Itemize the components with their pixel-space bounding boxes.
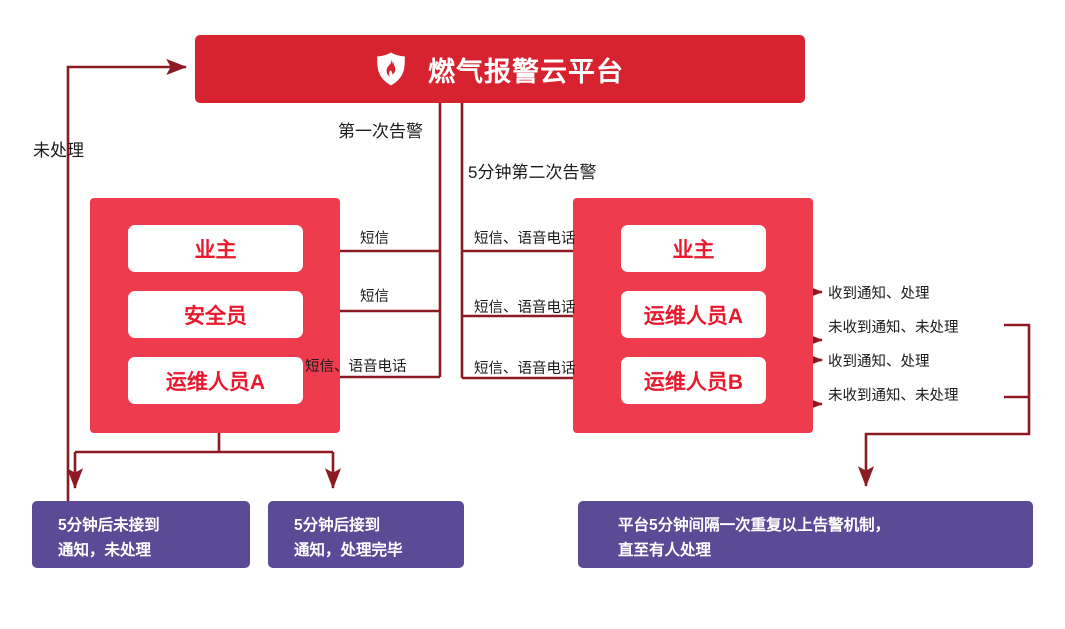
label-outcome-2: 未收到通知、未处理 — [828, 316, 959, 337]
label-second-alarm: 5分钟第二次告警 — [468, 158, 596, 183]
platform-header-banner: 燃气报警云平台 — [195, 35, 805, 103]
outcome-b-line-2: 通知，处理完毕 — [294, 538, 464, 563]
outcome-box-notified-handled: 5分钟后接到 通知，处理完毕 — [268, 501, 464, 568]
role-card-om-staff-b[interactable]: 运维人员B — [621, 357, 766, 404]
role-card-safety-officer[interactable]: 安全员 — [128, 291, 303, 338]
shield-flame-icon — [376, 52, 406, 86]
first-alarm-recipients-panel: 业主 安全员 运维人员A — [90, 198, 340, 433]
outcome-b-line-1: 5分钟后接到 — [294, 513, 464, 538]
label-left-channel-3: 短信、语音电话 — [305, 355, 407, 376]
label-unhandled-feedback: 未处理 — [33, 136, 84, 161]
label-right-channel-3: 短信、语音电话 — [474, 357, 576, 378]
outcome-box-repeat-mechanism: 平台5分钟间隔一次重复以上告警机制， 直至有人处理 — [578, 501, 1033, 568]
outcome-a-line-1: 5分钟后未接到 — [58, 513, 250, 538]
outcome-a-line-2: 通知，未处理 — [58, 538, 250, 563]
second-alarm-recipients-panel: 业主 运维人员A 运维人员B — [573, 198, 813, 433]
label-first-alarm: 第一次告警 — [338, 117, 423, 142]
outcome-box-not-notified: 5分钟后未接到 通知，未处理 — [32, 501, 250, 568]
page-title: 燃气报警云平台 — [428, 50, 624, 89]
label-outcome-1: 收到通知、处理 — [828, 282, 930, 303]
label-outcome-3: 收到通知、处理 — [828, 350, 930, 371]
role-card-om-staff-a-left[interactable]: 运维人员A — [128, 357, 303, 404]
outcome-c-line-1: 平台5分钟间隔一次重复以上告警机制， — [618, 513, 1033, 538]
role-card-owner-left[interactable]: 业主 — [128, 225, 303, 272]
label-left-channel-1: 短信 — [360, 227, 389, 248]
role-card-owner-right[interactable]: 业主 — [621, 225, 766, 272]
outcome-c-line-2: 直至有人处理 — [618, 538, 1033, 563]
label-left-channel-2: 短信 — [360, 285, 389, 306]
label-right-channel-1: 短信、语音电话 — [474, 227, 576, 248]
role-card-om-staff-a-right[interactable]: 运维人员A — [621, 291, 766, 338]
diagram-canvas: 燃气报警云平台 业主 安全员 运维人员A 业主 运维人员A 运维人员B 未处理 … — [0, 0, 1065, 629]
label-right-channel-2: 短信、语音电话 — [474, 296, 576, 317]
label-outcome-4: 未收到通知、未处理 — [828, 384, 959, 405]
